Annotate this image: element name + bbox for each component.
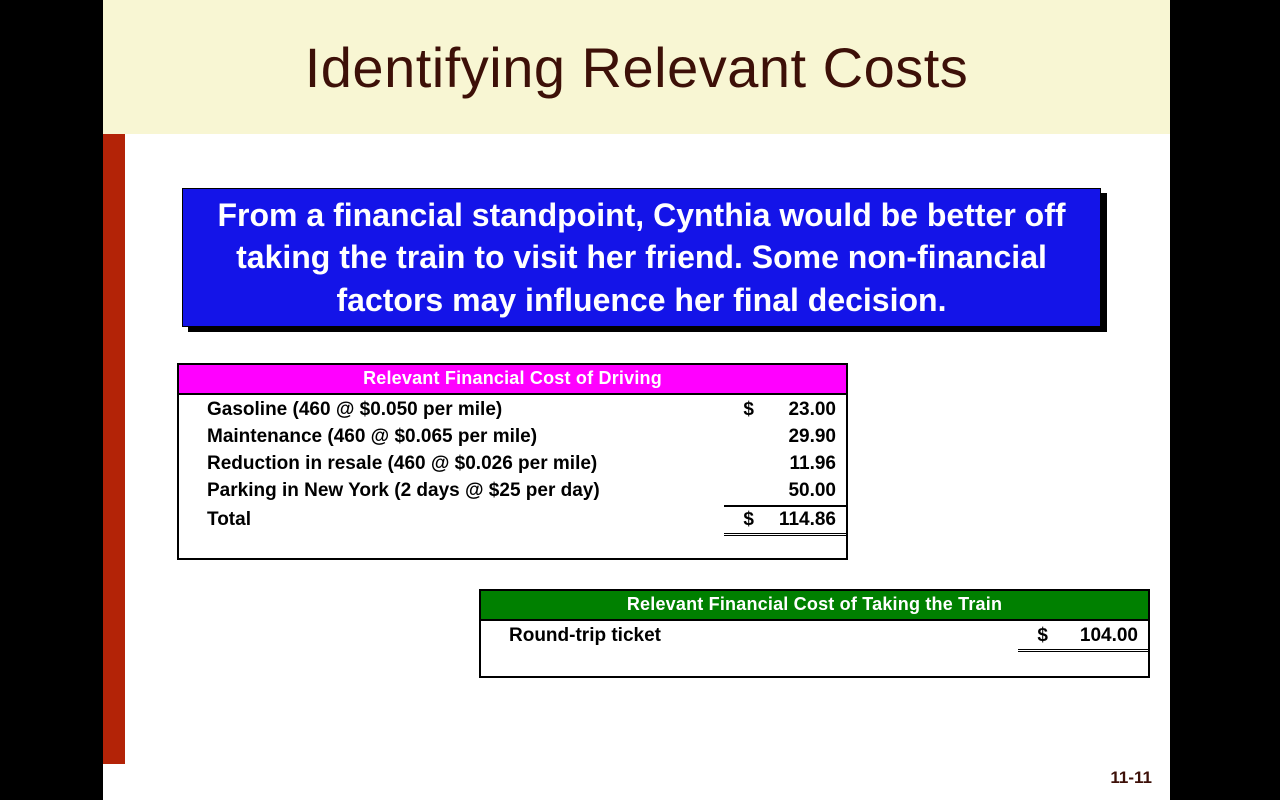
row-label: Reduction in resale (460 @ $0.026 per mi… — [179, 453, 724, 475]
row-currency: $ — [724, 399, 758, 421]
row-label: Parking in New York (2 days @ $25 per da… — [179, 480, 724, 502]
table-row: Parking in New York (2 days @ $25 per da… — [179, 478, 846, 505]
callout-text: From a financial standpoint, Cynthia wou… — [183, 194, 1100, 321]
row-amount-cell: $ 104.00 — [1018, 623, 1148, 652]
page-title: Identifying Relevant Costs — [103, 0, 1170, 134]
train-table-body: Round-trip ticket $ 104.00 — [481, 621, 1148, 676]
slide-canvas: Identifying Relevant Costs From a financ… — [103, 0, 1170, 800]
row-currency: $ — [724, 509, 758, 531]
row-label: Total — [179, 509, 724, 531]
row-label: Maintenance (460 @ $0.065 per mile) — [179, 426, 724, 448]
row-amount-cell: 50.00 — [724, 478, 846, 504]
train-table-header: Relevant Financial Cost of Taking the Tr… — [481, 591, 1148, 621]
callout-box: From a financial standpoint, Cynthia wou… — [182, 188, 1101, 327]
row-amount: 29.90 — [758, 426, 846, 448]
driving-cost-table: Relevant Financial Cost of Driving Gasol… — [177, 363, 848, 560]
table-row: Reduction in resale (460 @ $0.026 per mi… — [179, 451, 846, 478]
table-row: Gasoline (460 @ $0.050 per mile) $ 23.00 — [179, 397, 846, 424]
row-amount-cell: $ 114.86 — [724, 505, 846, 536]
table-row: Round-trip ticket $ 104.00 — [481, 623, 1148, 650]
row-amount: 50.00 — [758, 480, 846, 502]
row-amount: 11.96 — [758, 453, 846, 475]
driving-table-body: Gasoline (460 @ $0.050 per mile) $ 23.00… — [179, 395, 846, 558]
row-currency: $ — [1018, 625, 1052, 647]
row-label: Round-trip ticket — [481, 625, 1018, 647]
row-amount: 23.00 — [758, 399, 846, 421]
table-spacer — [481, 650, 1148, 676]
row-amount: 104.00 — [1052, 625, 1148, 647]
accent-bar — [103, 134, 125, 764]
page-number: 11-11 — [1110, 768, 1152, 788]
title-band: Identifying Relevant Costs — [103, 0, 1170, 134]
table-row: Maintenance (460 @ $0.065 per mile) 29.9… — [179, 424, 846, 451]
row-amount-cell: $ 23.00 — [724, 397, 846, 423]
driving-table-header: Relevant Financial Cost of Driving — [179, 365, 846, 395]
table-row-total: Total $ 114.86 — [179, 505, 846, 532]
row-amount-cell: 29.90 — [724, 424, 846, 450]
row-label: Gasoline (460 @ $0.050 per mile) — [179, 399, 724, 421]
train-cost-table: Relevant Financial Cost of Taking the Tr… — [479, 589, 1150, 678]
row-amount: 114.86 — [758, 509, 846, 531]
row-amount-cell: 11.96 — [724, 451, 846, 477]
